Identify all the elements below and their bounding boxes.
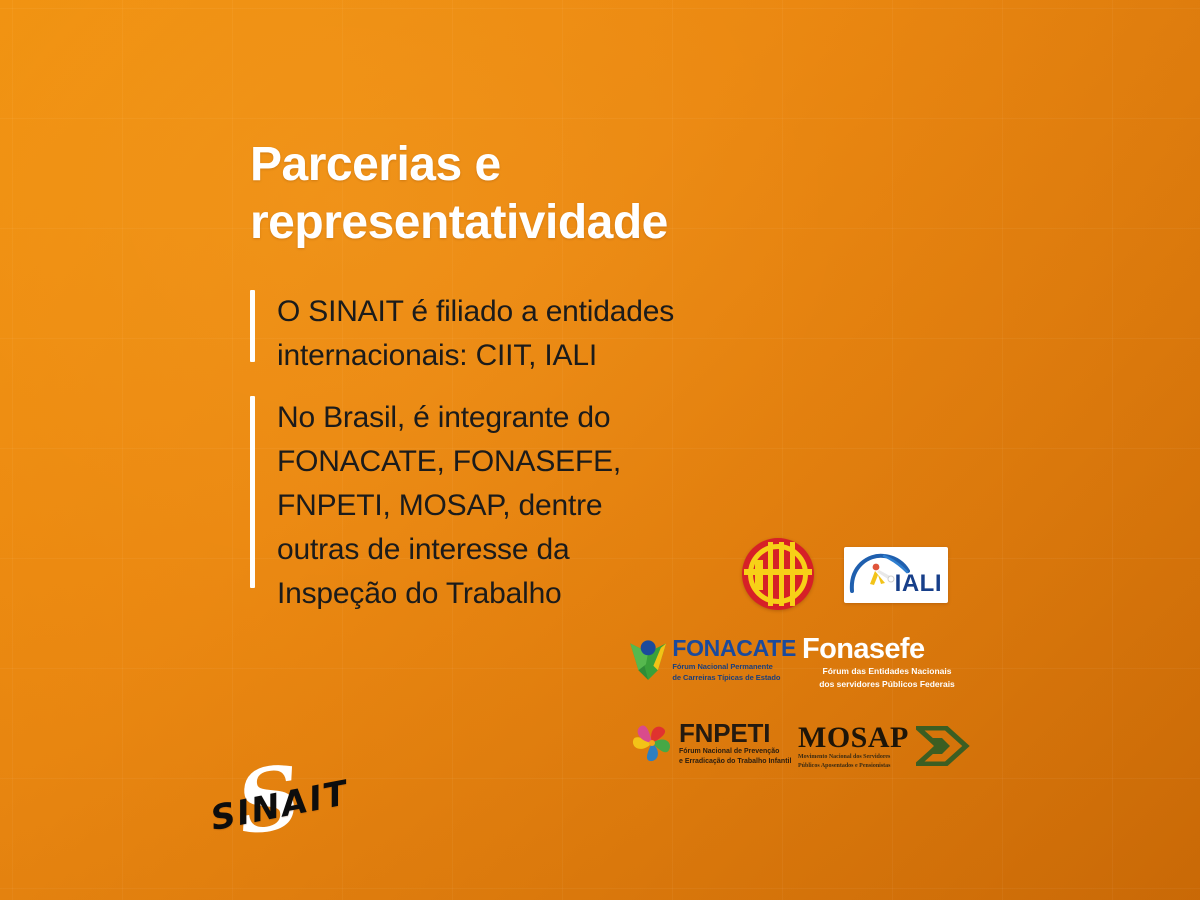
bullet-block-filiacao-internacional: O SINAIT é filiado a entidades internaci… (250, 290, 674, 378)
page-title-line-2: representatividade (250, 194, 870, 252)
ciit-vertical-bar (790, 542, 795, 606)
logo-ciit (742, 538, 822, 616)
fonasefe-subtitle-line-2: dos servidores Públicos Federais (802, 679, 972, 690)
bullet-block-integrante-nacional: No Brasil, é integrante do FONACATE, FON… (250, 396, 621, 616)
mosap-subtitle-line-1: Movimento Nacional dos Servidores (798, 754, 909, 762)
bullet-line: Inspeção do Trabalho (277, 572, 621, 616)
bullet-line: outras de interesse da (277, 528, 621, 572)
logo-mosap: MOSAP Movimento Nacional dos Servidores … (798, 722, 976, 776)
bullet-accent-bar (250, 290, 255, 362)
fonacate-subtitle-line-2: de Carreiras Típicas de Estado (672, 673, 796, 682)
bullet-text: No Brasil, é integrante do FONACATE, FON… (277, 396, 621, 616)
mosap-label: MOSAP (798, 722, 909, 753)
fonasefe-label: Fonasefe (802, 634, 972, 664)
fonacate-subtitle-line-1: Fórum Nacional Permanente (672, 662, 796, 671)
page-title-line-1: Parcerias e (250, 136, 870, 194)
bullet-line: FONACATE, FONASEFE, (277, 440, 621, 484)
ciit-vertical-bar (779, 542, 784, 606)
bullet-line: O SINAIT é filiado a entidades (277, 290, 674, 334)
ciit-circle-emblem-icon (742, 538, 814, 610)
bullet-line: FNPETI, MOSAP, dentre (277, 484, 621, 528)
fonacate-figure-icon (628, 630, 668, 688)
partner-logo-group: IALI FONACATE Fórum Nacional Permanente … (620, 528, 990, 778)
logo-fonasefe: Fonasefe Fórum das Entidades Nacionais d… (802, 634, 972, 690)
bullet-line: No Brasil, é integrante do (277, 396, 621, 440)
bullet-accent-bar (250, 396, 255, 588)
ciit-vertical-bar (768, 542, 773, 606)
slide-canvas: Parcerias e representatividade O SINAIT … (0, 0, 1200, 900)
fnpeti-subtitle-line-2: e Erradicação do Trabalho Infantil (679, 758, 791, 767)
logo-fonacate: FONACATE Fórum Nacional Permanente de Ca… (628, 630, 796, 692)
fonacate-label: FONACATE (672, 636, 796, 660)
logo-iali: IALI (844, 547, 948, 603)
bullet-text: O SINAIT é filiado a entidades internaci… (277, 290, 674, 378)
fnpeti-pinwheel-icon (628, 720, 676, 766)
sinait-logo-icon: S SINAIT (198, 756, 358, 846)
logo-sinait: S SINAIT (198, 756, 358, 846)
ciit-c-stroke (755, 560, 763, 590)
mosap-subtitle-line-2: Públicos Aposentados e Pensionistas (798, 763, 909, 771)
mosap-chevron-icon (916, 726, 972, 766)
fnpeti-label: FNPETI (679, 720, 791, 747)
fonasefe-subtitle-line-1: Fórum das Entidades Nacionais (802, 666, 972, 677)
page-title: Parcerias e representatividade (250, 136, 870, 252)
logo-fnpeti: FNPETI Fórum Nacional de Prevenção e Err… (628, 720, 796, 776)
fnpeti-subtitle-line-1: Fórum Nacional de Prevenção (679, 748, 791, 757)
iali-label: IALI (895, 572, 942, 596)
bullet-line: internacionais: CIIT, IALI (277, 334, 674, 378)
